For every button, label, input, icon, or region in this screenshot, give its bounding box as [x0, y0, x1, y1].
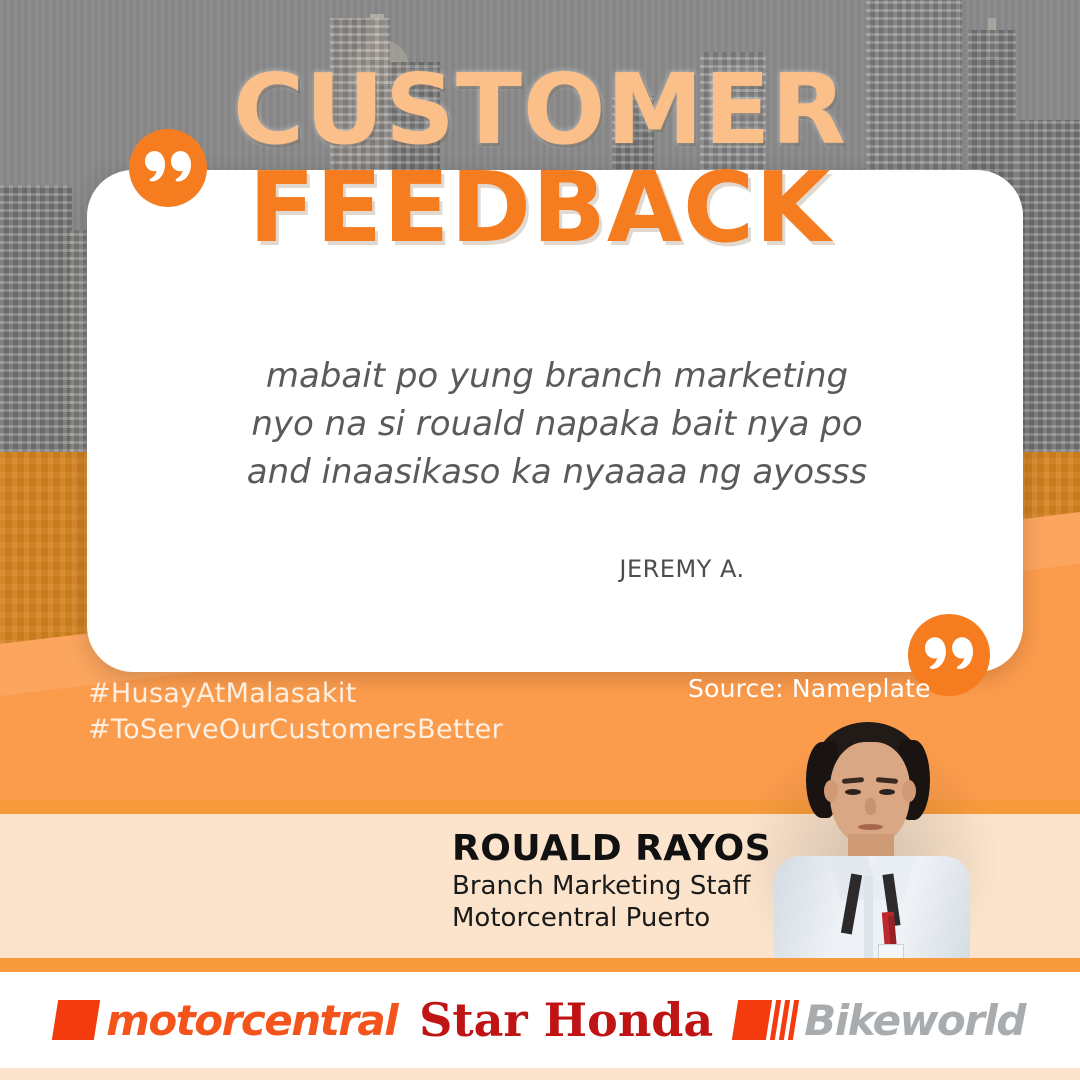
logo-motorcentral: motorcentral — [55, 996, 397, 1045]
source-label: Source: Nameplate — [688, 674, 931, 703]
portrait-ear — [902, 780, 916, 802]
bikeworld-bars-icon — [770, 1000, 799, 1040]
hashtag-line-1: #HusayAtMalasakit — [88, 676, 503, 712]
bikeworld-square-icon — [732, 1000, 772, 1040]
staff-name: ROUALD RAYOS — [452, 828, 771, 870]
portrait-nose — [865, 798, 876, 815]
footer-logo-bar: motorcentral Star Honda Bikeworld — [0, 972, 1080, 1068]
hashtags: #HusayAtMalasakit #ToServeOurCustomersBe… — [88, 676, 503, 748]
footer-bottom-strip — [0, 1068, 1080, 1080]
portrait-ear — [824, 780, 838, 802]
portrait-eye — [845, 789, 861, 795]
quote-attribution: JEREMY A. — [517, 555, 847, 583]
portrait-placket — [864, 876, 873, 958]
bikeworld-wordmark: Bikeworld — [804, 996, 1025, 1045]
staff-role: Branch Marketing Staff — [452, 870, 771, 902]
band-stripe-bottom — [0, 958, 1080, 972]
hashtag-line-2: #ToServeOurCustomersBetter — [88, 712, 503, 748]
quote-text: mabait po yung branch marketing nyo na s… — [237, 352, 877, 496]
staff-branch: Motorcentral Puerto — [452, 902, 771, 934]
staff-info: ROUALD RAYOS Branch Marketing Staff Moto… — [452, 828, 771, 934]
logo-star-honda: Star Honda — [419, 993, 713, 1047]
bikeworld-bar — [788, 1000, 799, 1040]
motorcentral-wordmark: motorcentral — [106, 996, 397, 1045]
portrait-id-badge — [878, 944, 904, 958]
quote-mark-icon — [129, 129, 207, 207]
logo-bikeworld: Bikeworld — [735, 996, 1025, 1045]
portrait-face — [830, 742, 910, 846]
portrait-mouth — [858, 824, 883, 830]
motorcentral-square-icon — [52, 1000, 100, 1040]
customer-feedback-poster: CUSTOMER FEEDBACK mabait po yung branch … — [0, 0, 1080, 1080]
portrait-eye — [879, 789, 895, 795]
